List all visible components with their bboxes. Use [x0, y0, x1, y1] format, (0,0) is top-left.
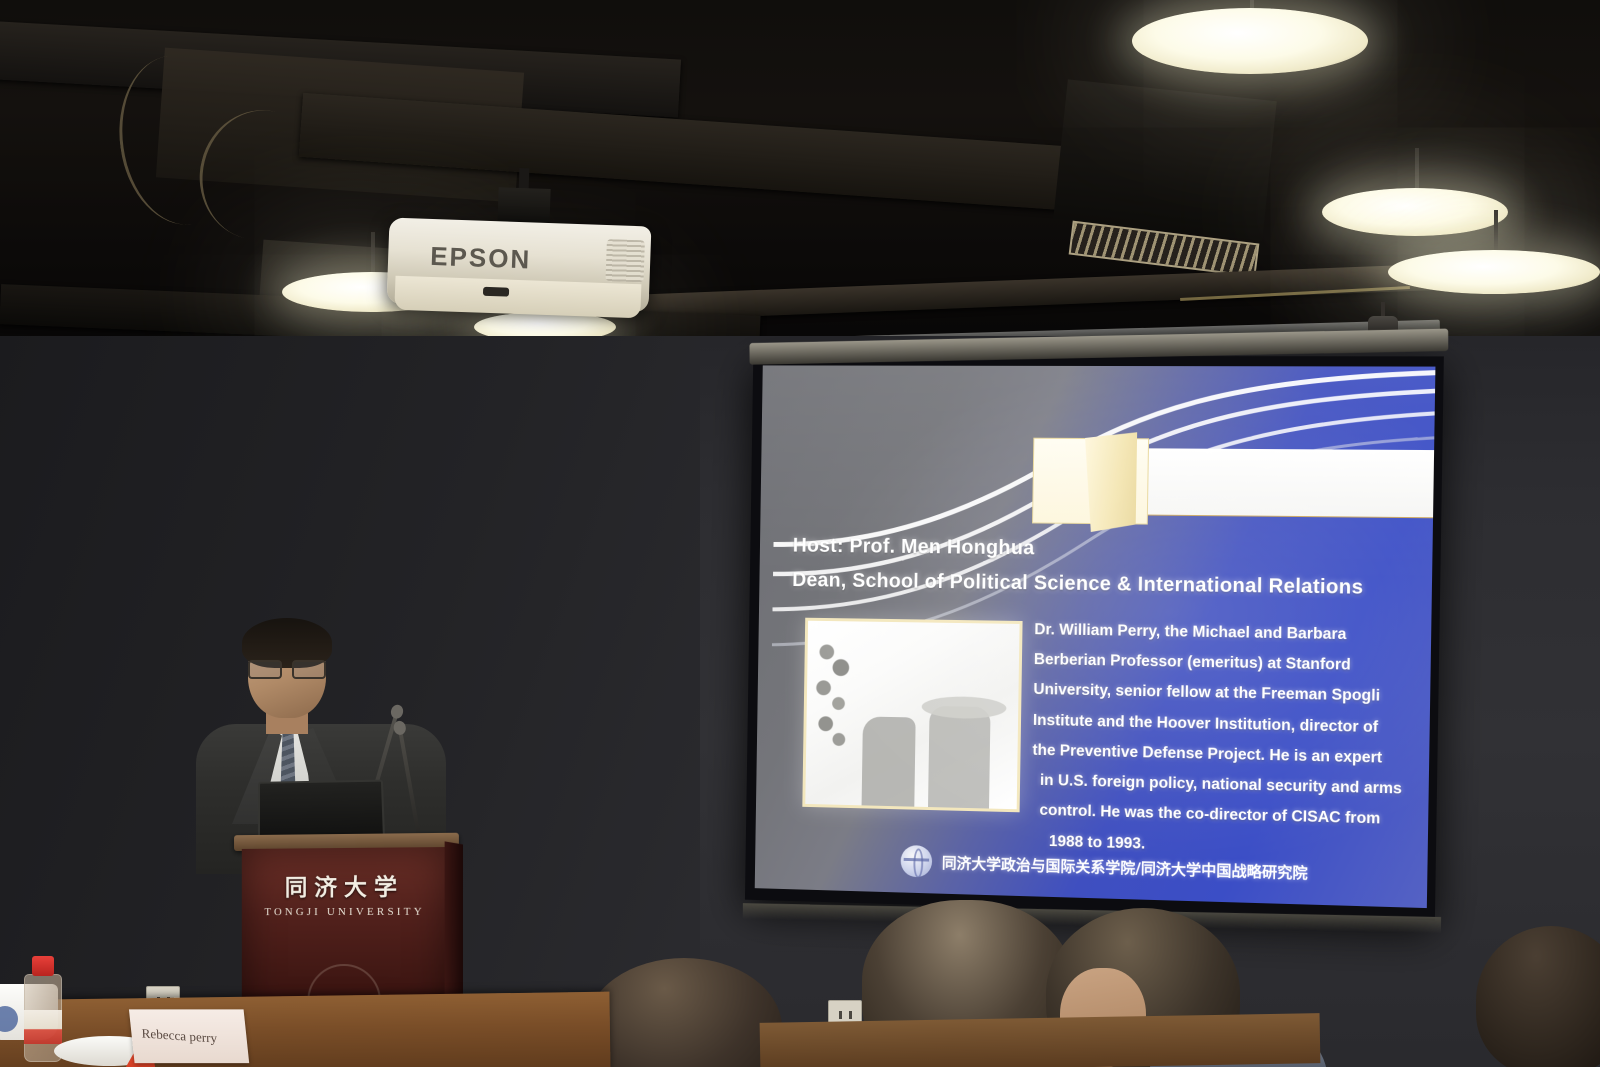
ceiling-projector-icon: EPSON: [387, 217, 652, 312]
bottle-cap: [32, 956, 54, 976]
pendant-light-icon: [1388, 250, 1600, 294]
name-card: Rebecca perry: [115, 997, 249, 1067]
globe-logo-icon: [900, 845, 932, 878]
glasses-icon: [248, 660, 326, 676]
photo-foliage: [812, 629, 859, 758]
pendant-light-icon: [1132, 8, 1368, 74]
podium-chinese-name: 同济大学: [242, 867, 449, 902]
photo-figure: [928, 706, 991, 812]
pendant-light-icon: [1322, 188, 1508, 236]
projector-mount: [497, 187, 550, 225]
projector-brand-label: EPSON: [430, 241, 532, 276]
pendant-light-stem: [1415, 148, 1419, 192]
slide-bio-text: Dr. William Perry, the Michael and Barba…: [1031, 615, 1436, 868]
podium-english-name: TONGJI UNIVERSITY: [242, 906, 449, 918]
slide-host-block: Host: Prof. Men Honghua Dean, School of …: [792, 535, 1433, 601]
pendant-light-stem: [1494, 210, 1498, 254]
slide-folder-flap: [1084, 432, 1138, 533]
water-bottle-icon: [24, 956, 62, 1060]
projector-lens-slot: [483, 287, 509, 297]
podium-logo: 同济大学 TONGJI UNIVERSITY: [242, 867, 449, 918]
slide-footer-text: 同济大学政治与国际关系学院/同济大学中国战略研究院: [942, 852, 1308, 883]
projection-screen: Host: Prof. Men Honghua Dean, School of …: [745, 356, 1444, 921]
photo-figure: [861, 716, 915, 812]
projector-vent-icon: [605, 239, 644, 282]
slide-photo: [802, 618, 1022, 813]
audience-table: [760, 1013, 1321, 1067]
hvac-duct: [1053, 79, 1276, 240]
bottle-label: [24, 1010, 62, 1044]
ceiling-beam: [620, 261, 1520, 322]
teacup-emblem: [0, 1006, 18, 1032]
presentation-slide: Host: Prof. Men Honghua Dean, School of …: [755, 365, 1436, 908]
lecture-hall-scene: EPSON Host: Prof. Men Honghua Dean, Scho…: [0, 0, 1600, 1067]
pendant-light-stem: [371, 232, 375, 276]
ceiling: [0, 0, 1600, 360]
